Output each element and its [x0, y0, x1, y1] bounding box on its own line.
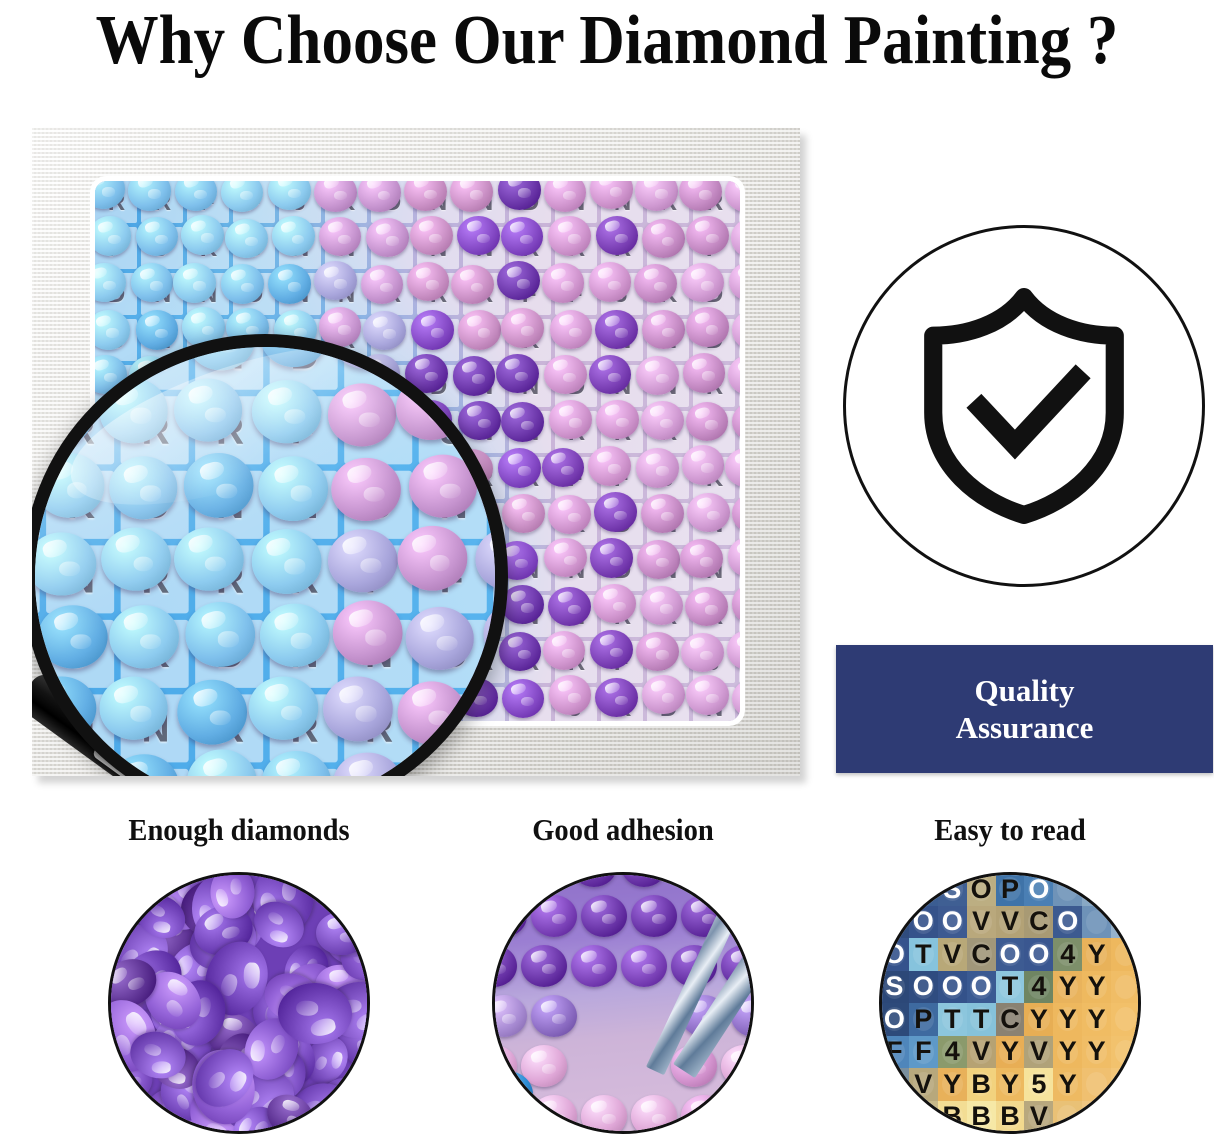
drill-bead	[589, 262, 632, 301]
drill-bead	[496, 354, 539, 393]
chart-cell-letter: C	[999, 1007, 1020, 1031]
symbol-cell	[493, 545, 508, 613]
chart-cell-letter: O	[1028, 942, 1049, 966]
chart-cell-letter: O	[884, 942, 905, 966]
chart-cell: T	[909, 938, 938, 971]
chart-cell: Y	[996, 1036, 1025, 1069]
drill-bead	[543, 631, 586, 670]
feature-label: Good adhesion	[471, 812, 775, 848]
drill-bead	[544, 538, 587, 577]
purple-drills-circle	[108, 872, 370, 1134]
chart-cell: O	[909, 971, 938, 1004]
drill-bead	[641, 401, 684, 440]
drill-bead	[410, 216, 453, 255]
drill-bead	[99, 379, 168, 443]
feature-enough-diamonds: Enough diamonds	[74, 812, 404, 848]
drill-bead	[136, 217, 179, 256]
drill-bead	[35, 453, 104, 517]
chart-cell-letter: O	[942, 910, 963, 934]
chart-cell-letter: B	[970, 1105, 991, 1129]
chart-cell-letter: B	[999, 1105, 1020, 1129]
chart-cell	[880, 1068, 909, 1101]
drill-bead	[314, 261, 357, 300]
chart-cell: Y	[1082, 938, 1111, 971]
drill-bead	[32, 676, 96, 740]
chart-cell-letter: O	[884, 1007, 905, 1031]
chart-cell-letter: Y	[1057, 975, 1078, 999]
chart-cell: Y	[938, 1068, 967, 1101]
chart-cell	[880, 906, 909, 939]
chart-cell: 4	[938, 1036, 967, 1069]
chart-cell-letter: 5	[1028, 1072, 1049, 1096]
drill-bead	[634, 264, 677, 303]
chart-cell: T	[967, 1003, 996, 1036]
chart-cell: O	[938, 971, 967, 1004]
chart-cell-letter	[1115, 910, 1136, 934]
drill-bead	[501, 402, 544, 441]
drill-bead	[260, 604, 329, 668]
canvas-photo-card: RRFF5KDNNDNNRRRFF5KDNNDNNRRRFF5KDNNDNNRR…	[32, 128, 800, 776]
chart-cell	[1111, 1003, 1140, 1036]
drill-bead	[595, 310, 638, 349]
chart-cell: B	[967, 1101, 996, 1134]
chart-cell: O	[880, 938, 909, 971]
drill-bead	[686, 216, 729, 255]
chart-cell	[1082, 1101, 1111, 1134]
chart-cell: V	[1024, 1036, 1053, 1069]
chart-cell-letter: O	[999, 942, 1020, 966]
drill-bead	[686, 307, 729, 346]
drill-bead	[641, 494, 684, 533]
chart-cell: B	[996, 1101, 1025, 1134]
chart-cell-letter: Y	[1086, 1040, 1107, 1064]
chart-cell-letter	[1086, 1105, 1107, 1129]
chart-cell: O	[909, 906, 938, 939]
chart-cell	[1111, 1101, 1140, 1134]
chart-cell-letter: T	[999, 975, 1020, 999]
chart-cell-letter: V	[970, 910, 991, 934]
chart-cell	[1111, 873, 1140, 906]
chart-cell	[1111, 1068, 1140, 1101]
chart-cell-letter: C	[970, 942, 991, 966]
chart-cell-letter: B	[970, 1072, 991, 1096]
chart-cell: O	[967, 873, 996, 906]
chart-cell-letter: B	[942, 1105, 963, 1129]
chart-cell: F	[880, 1036, 909, 1069]
chart-cell: V	[938, 938, 967, 971]
drill-bead	[590, 630, 633, 669]
chart-cell: Y	[1053, 1068, 1082, 1101]
chart-cell-letter: T	[913, 942, 934, 966]
chart-cell-letter: O	[1057, 910, 1078, 934]
chart-cell	[1111, 1036, 1140, 1069]
chart-cell: S	[938, 873, 967, 906]
drill-bead	[397, 526, 466, 590]
chart-cell-letter	[913, 877, 934, 901]
chart-cell: 4	[1024, 971, 1053, 1004]
drill-bead	[542, 263, 585, 302]
drill-bead	[397, 681, 466, 745]
chart-cell-letter	[884, 910, 905, 934]
chart-cell-letter: F	[884, 1040, 905, 1064]
drill-bead	[681, 263, 724, 302]
chart-cell: V	[967, 906, 996, 939]
canvas-drill	[631, 1095, 677, 1134]
canvas-drill	[531, 895, 577, 937]
banner-line-2: Assurance	[956, 709, 1094, 746]
drill-bead	[589, 355, 632, 394]
banner-line-1: Quality	[975, 672, 1075, 709]
drill-bead	[249, 676, 318, 740]
chart-cell	[1111, 938, 1140, 971]
chart-cell-letter: C	[1028, 910, 1049, 934]
quality-shield-badge	[843, 225, 1205, 587]
feature-label: Easy to read	[858, 812, 1162, 848]
chart-cell: O	[1024, 938, 1053, 971]
chart-cell: Y	[1082, 1003, 1111, 1036]
shield-check-icon	[909, 288, 1139, 524]
chart-cell: 4	[1053, 938, 1082, 971]
chart-cell-letter: Y	[999, 1040, 1020, 1064]
chart-cell-letter: Y	[942, 1072, 963, 1096]
chart-cell-letter	[1115, 877, 1136, 901]
chart-cell	[1111, 971, 1140, 1004]
drill-bead	[327, 383, 396, 447]
drill-bead	[548, 216, 591, 255]
tweezers-placing-drill-circle	[492, 872, 754, 1134]
chart-cell-letter: O	[942, 975, 963, 999]
chart-cell-letter: S	[942, 877, 963, 901]
drill-bead	[544, 355, 587, 394]
chart-cell: T	[996, 971, 1025, 1004]
chart-cell: F	[909, 1036, 938, 1069]
chart-cell: Y	[996, 1068, 1025, 1101]
chart-cell-letter: Y	[1086, 1007, 1107, 1031]
chart-cell: O	[880, 1003, 909, 1036]
chart-cell	[1053, 873, 1082, 906]
chart-cell: S	[880, 971, 909, 1004]
chart-cell-letter: V	[970, 1040, 991, 1064]
chart-cell-letter: O	[970, 877, 991, 901]
chart-cell-letter: O	[913, 975, 934, 999]
chart-cell: Y	[1024, 1003, 1053, 1036]
chart-cell: V	[996, 906, 1025, 939]
chart-cell	[880, 1101, 909, 1134]
drill-bead	[642, 310, 685, 349]
drill-bead	[682, 445, 725, 484]
drill-bead	[173, 263, 216, 302]
chart-cell-letter: O	[913, 910, 934, 934]
chart-cell-letter: O	[970, 975, 991, 999]
chart-cell-letter: F	[913, 1040, 934, 1064]
chart-cell-letter: Y	[1086, 942, 1107, 966]
drill-bead	[38, 605, 107, 669]
drill-bead	[324, 677, 393, 741]
drill-bead	[642, 219, 685, 258]
chart-cell-letter	[1057, 1105, 1078, 1129]
chart-cell-letter	[1115, 1072, 1136, 1096]
chart-cell-letter	[1086, 1072, 1107, 1096]
chart-cell: Y	[1082, 971, 1111, 1004]
drill-bead	[272, 216, 315, 255]
chart-cell	[1082, 873, 1111, 906]
drill-bead	[549, 675, 592, 714]
drill-bead	[636, 448, 679, 487]
drill-bead	[408, 454, 477, 518]
chart-cell-letter: 4	[942, 1040, 963, 1064]
drill-bead	[319, 217, 362, 256]
chart-cell-letter: 4	[1057, 942, 1078, 966]
chart-cell: C	[967, 938, 996, 971]
chart-cell: C	[996, 1003, 1025, 1036]
chart-cell-letter	[1086, 877, 1107, 901]
chart-cell: C	[1024, 906, 1053, 939]
drill-bead	[498, 448, 541, 487]
canvas-drill	[621, 945, 667, 987]
chart-cell-letter	[884, 1105, 905, 1129]
chart-cell-letter: S	[884, 975, 905, 999]
feature-label: Enough diamonds	[87, 812, 391, 848]
drill-bead	[109, 605, 178, 669]
drill-bead	[252, 529, 321, 593]
drill-bead	[328, 529, 397, 593]
chart-cell-letter: V	[999, 910, 1020, 934]
chart-cell-letter: V	[1028, 1105, 1049, 1129]
chart-cell: V	[967, 1036, 996, 1069]
chart-cell	[880, 873, 909, 906]
symbol-cell	[32, 334, 40, 390]
canvas-drill	[581, 1095, 627, 1134]
drill-bead	[186, 603, 255, 667]
chart-cell: O	[1053, 906, 1082, 939]
drill-bead	[683, 353, 726, 392]
chart-cell-letter: Y	[999, 1072, 1020, 1096]
chart-cell: V	[1024, 1101, 1053, 1134]
chart-cell: O	[1024, 873, 1053, 906]
drill-bead	[636, 632, 679, 671]
chart-cell: Y	[1082, 1036, 1111, 1069]
chart-cell-letter	[1115, 1040, 1136, 1064]
chart-cell-letter	[1115, 975, 1136, 999]
chart-cell: P	[996, 873, 1025, 906]
magnified-view: RRFF5KDNNDNNRRRFF5KDNNDNNRRRFF5KDNNDNNRR…	[32, 334, 508, 776]
chart-cell-letter: 4	[1028, 975, 1049, 999]
quality-assurance-banner: Quality Assurance	[836, 645, 1213, 773]
drill-bead	[259, 457, 328, 521]
chart-cell: B	[967, 1068, 996, 1101]
chart-cell-letter: Y	[1028, 1007, 1049, 1031]
chart-cell: T	[938, 1003, 967, 1036]
drill-bead	[361, 265, 404, 304]
chart-cell	[1111, 906, 1140, 939]
drill-bead	[333, 601, 402, 665]
drill-bead	[136, 310, 179, 349]
drill-bead	[595, 678, 638, 717]
canvas-drill	[521, 945, 567, 987]
chart-cell-letter	[913, 1105, 934, 1129]
letter-grid: SOPOOOVVCOOTVCOO4YSOOOT4YYOPTTCYYYFF4VYV…	[880, 873, 1140, 1133]
symbol-cell	[32, 769, 40, 776]
chart-cell-letter	[884, 877, 905, 901]
drill-bead	[501, 308, 544, 347]
feature-easy-to-read: Easy to read	[845, 812, 1175, 848]
chart-cell-letter: V	[942, 942, 963, 966]
chart-cell: Y	[1053, 971, 1082, 1004]
drill-bead	[181, 215, 224, 254]
drill-bead	[588, 446, 631, 485]
chart-cell: 5	[1024, 1068, 1053, 1101]
chart-cell-letter: Y	[1057, 1007, 1078, 1031]
drill-bead	[174, 527, 243, 591]
drill-bead	[593, 584, 636, 623]
chart-cell-letter: V	[913, 1072, 934, 1096]
drill-bead	[687, 493, 730, 532]
chart-cell	[909, 1101, 938, 1134]
drill-bead	[594, 492, 637, 531]
drill-bead	[686, 675, 729, 714]
drill-bead	[590, 538, 633, 577]
drill-bead	[548, 587, 591, 626]
chart-cell: Y	[1053, 1036, 1082, 1069]
feature-good-adhesion: Good adhesion	[458, 812, 788, 848]
chart-cell-letter: T	[942, 1007, 963, 1031]
chart-cell-letter	[1057, 877, 1078, 901]
drill-bead	[221, 264, 264, 303]
drill-bead	[636, 356, 679, 395]
chart-cell-letter: P	[913, 1007, 934, 1031]
chart-cell-letter	[1115, 942, 1136, 966]
chart-cell: B	[938, 1101, 967, 1134]
chart-cell-letter: V	[1028, 1040, 1049, 1064]
drill-bead	[184, 454, 253, 518]
chart-cell-letter: Y	[1057, 1072, 1078, 1096]
chart-cell-letter: Y	[1057, 1040, 1078, 1064]
drill-bead	[680, 539, 723, 578]
canvas-drill	[631, 895, 677, 937]
page-title: Why Choose Our Diamond Painting ?	[61, 2, 1154, 80]
chart-cell: O	[938, 906, 967, 939]
magnifier-lens: RRFF5KDNNDNNRRRFF5KDNNDNNRRRFF5KDNNDNNRR…	[32, 334, 508, 776]
chart-cell	[909, 873, 938, 906]
chart-cell-letter: O	[1028, 877, 1049, 901]
canvas-drill	[531, 995, 577, 1037]
chart-cell-letter	[1115, 1105, 1136, 1129]
chart-cell: P	[909, 1003, 938, 1036]
drill-bead	[642, 675, 685, 714]
letter-chart-circle: SOPOOOVVCOOTVCOO4YSOOOT4YYOPTTCYYYFF4VYV…	[879, 872, 1141, 1134]
chart-cell-letter: P	[999, 877, 1020, 901]
drill-bead	[637, 540, 680, 579]
canvas-drill	[531, 1095, 577, 1134]
chart-cell	[1082, 906, 1111, 939]
drill-bead	[451, 265, 494, 304]
chart-cell	[1053, 1101, 1082, 1134]
chart-cell-letter	[1115, 1007, 1136, 1031]
symbol-cell	[493, 769, 508, 776]
drill-bead	[268, 264, 311, 303]
chart-cell-letter	[884, 1072, 905, 1096]
drill-bead	[396, 377, 465, 441]
drill-bead	[225, 219, 268, 258]
chart-cell	[1082, 1068, 1111, 1101]
drill-bead	[457, 216, 500, 255]
chart-cell: O	[996, 938, 1025, 971]
drill-bead	[332, 457, 401, 521]
drill-bead	[252, 379, 321, 443]
chart-cell: Y	[1053, 1003, 1082, 1036]
drill-bead	[596, 400, 639, 439]
canvas-drill	[581, 895, 627, 937]
drill-bead	[411, 310, 454, 349]
drill-bead	[177, 680, 246, 744]
canvas-drill	[681, 1095, 727, 1134]
canvas-drill	[571, 945, 617, 987]
chart-cell-letter: T	[970, 1007, 991, 1031]
chart-cell: V	[909, 1068, 938, 1101]
drill-bead	[458, 310, 501, 349]
drill-bead	[681, 633, 724, 672]
drill-bead	[101, 527, 170, 591]
drill-bead	[502, 494, 545, 533]
chart-cell-letter	[1086, 910, 1107, 934]
chart-cell-letter: Y	[1086, 975, 1107, 999]
chart-cell: O	[967, 971, 996, 1004]
